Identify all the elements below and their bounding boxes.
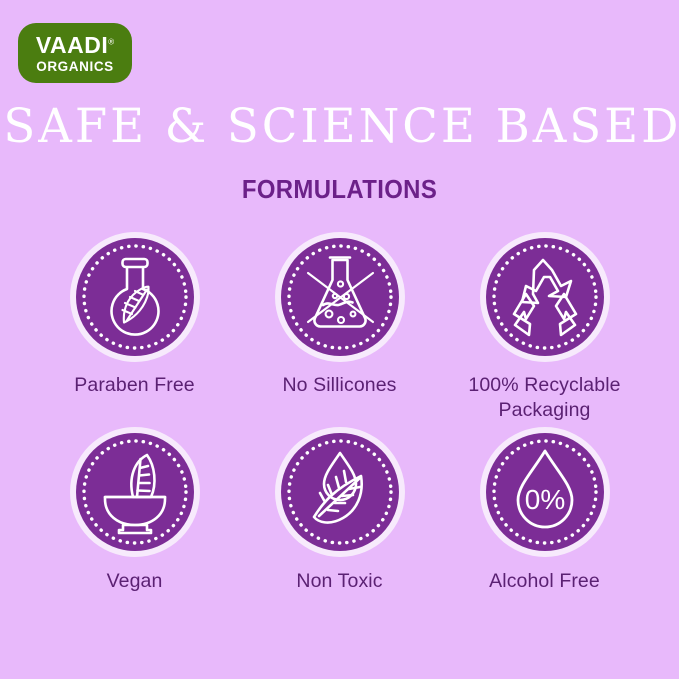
badge-label: Vegan — [107, 569, 163, 594]
badge-non-toxic — [275, 427, 405, 557]
badge-label: Non Toxic — [296, 569, 382, 594]
mortar-bowl-leaf-icon — [70, 427, 200, 557]
brand-logo: VAADI® ORGANICS — [18, 23, 132, 83]
badge-item-recyclable-packaging: 100% Recyclable Packaging — [442, 232, 647, 423]
badge-label: No Sillicones — [282, 373, 396, 398]
zero-percent-label: 0% — [524, 484, 564, 515]
badge-recyclable-packaging — [480, 232, 610, 362]
registered-trademark-icon: ® — [108, 38, 114, 47]
infographic-page: VAADI® ORGANICS SAFE & SCIENCE BASED FOR… — [0, 0, 679, 679]
badge-row-bottom: Vegan — [0, 427, 679, 594]
page-title: SAFE & SCIENCE BASED — [3, 103, 675, 150]
brand-logo-subtitle: ORGANICS — [36, 60, 114, 74]
droplet-zero-percent-icon: 0% — [480, 427, 610, 557]
droplet-leaf-icon — [275, 427, 405, 557]
badge-no-sillicones — [275, 232, 405, 362]
badge-item-vegan: Vegan — [32, 427, 237, 594]
badge-label: Alcohol Free — [489, 569, 600, 594]
flask-leaf-icon — [70, 232, 200, 362]
badge-alcohol-free: 0% — [480, 427, 610, 557]
badge-item-non-toxic: Non Toxic — [237, 427, 442, 594]
brand-logo-wordmark: VAADI — [36, 32, 108, 58]
badge-item-paraben-free: Paraben Free — [32, 232, 237, 423]
badge-item-alcohol-free: 0% Alcohol Free — [442, 427, 647, 594]
flask-crossed-out-icon — [275, 232, 405, 362]
badge-label: Paraben Free — [74, 373, 194, 398]
page-subtitle: FORMULATIONS — [27, 176, 652, 202]
badge-row-top: Paraben Free — [0, 232, 679, 423]
badge-label: 100% Recyclable Packaging — [445, 373, 645, 423]
brand-logo-name: VAADI® — [36, 34, 114, 57]
badge-item-no-sillicones: No Sillicones — [237, 232, 442, 423]
badge-vegan — [70, 427, 200, 557]
badge-grid: Paraben Free — [0, 232, 679, 594]
recycle-icon — [480, 232, 610, 362]
badge-paraben-free — [70, 232, 200, 362]
